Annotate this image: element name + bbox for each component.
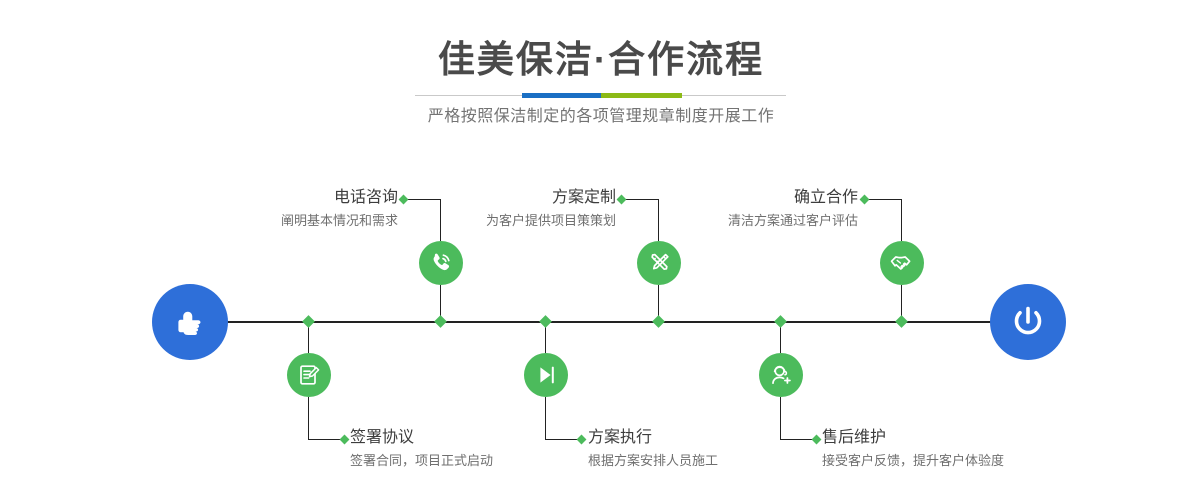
step-3-label: 方案定制 为客户提供项目策策划 bbox=[370, 188, 616, 229]
step-5-elbow bbox=[865, 199, 902, 200]
step-4-axis-diamond bbox=[539, 315, 552, 328]
step-5-stem-upper bbox=[901, 199, 902, 241]
phone-call-icon bbox=[428, 250, 454, 276]
step-2-stem-lower bbox=[308, 397, 309, 439]
step-3-icon-node[interactable] bbox=[637, 241, 681, 285]
step-6-title: 售后维护 bbox=[822, 428, 1102, 447]
step-2-label-diamond bbox=[340, 435, 350, 445]
step-4-desc: 根据方案安排人员施工 bbox=[588, 452, 848, 469]
timeline-start-endpoint bbox=[152, 284, 228, 360]
step-5-label-diamond bbox=[860, 195, 870, 205]
page-subtitle: 严格按照保洁制定的各项管理规章制度开展工作 bbox=[0, 107, 1202, 127]
step-2-icon-node[interactable] bbox=[287, 353, 331, 397]
step-5-desc: 清洁方案通过客户评估 bbox=[612, 212, 858, 229]
customer-service-add-icon bbox=[768, 362, 794, 388]
title-divider-accent-blue bbox=[522, 93, 601, 98]
play-execute-icon bbox=[533, 362, 559, 388]
title-divider-accent-green bbox=[601, 93, 682, 98]
step-6-desc: 接受客户反馈，提升客户体验度 bbox=[822, 452, 1102, 469]
document-sign-icon bbox=[296, 362, 322, 388]
step-1-title: 电话咨询 bbox=[150, 188, 398, 207]
step-4-title: 方案执行 bbox=[588, 428, 848, 447]
step-5-axis-diamond bbox=[895, 315, 908, 328]
step-2-label: 签署协议 签署合同，项目正式启动 bbox=[350, 428, 610, 469]
handshake-icon bbox=[889, 250, 915, 276]
pencil-design-icon bbox=[646, 250, 672, 276]
step-1-icon-node[interactable] bbox=[419, 241, 463, 285]
step-1-label: 电话咨询 阐明基本情况和需求 bbox=[150, 188, 398, 229]
step-6-axis-diamond bbox=[774, 315, 787, 328]
step-4-icon-node[interactable] bbox=[524, 353, 568, 397]
page-title: 佳美保洁·合作流程 bbox=[0, 41, 1202, 78]
step-6-label: 售后维护 接受客户反馈，提升客户体验度 bbox=[822, 428, 1102, 469]
step-1-axis-diamond bbox=[434, 315, 447, 328]
step-5-label: 确立合作 清洁方案通过客户评估 bbox=[612, 188, 858, 229]
pointing-hand-icon bbox=[170, 302, 210, 342]
step-1-desc: 阐明基本情况和需求 bbox=[150, 212, 398, 229]
step-3-desc: 为客户提供项目策策划 bbox=[370, 212, 616, 229]
timeline-end-endpoint bbox=[990, 284, 1066, 360]
process-flow-infographic: 佳美保洁·合作流程 严格按照保洁制定的各项管理规章制度开展工作 bbox=[0, 0, 1202, 502]
step-2-title: 签署协议 bbox=[350, 428, 610, 447]
step-4-label: 方案执行 根据方案安排人员施工 bbox=[588, 428, 848, 469]
step-6-icon-node[interactable] bbox=[759, 353, 803, 397]
power-icon bbox=[1007, 301, 1049, 343]
step-3-axis-diamond bbox=[652, 315, 665, 328]
step-5-title: 确立合作 bbox=[612, 188, 858, 207]
step-2-axis-diamond bbox=[302, 315, 315, 328]
step-5-icon-node[interactable] bbox=[880, 241, 924, 285]
step-2-desc: 签署合同，项目正式启动 bbox=[350, 452, 610, 469]
